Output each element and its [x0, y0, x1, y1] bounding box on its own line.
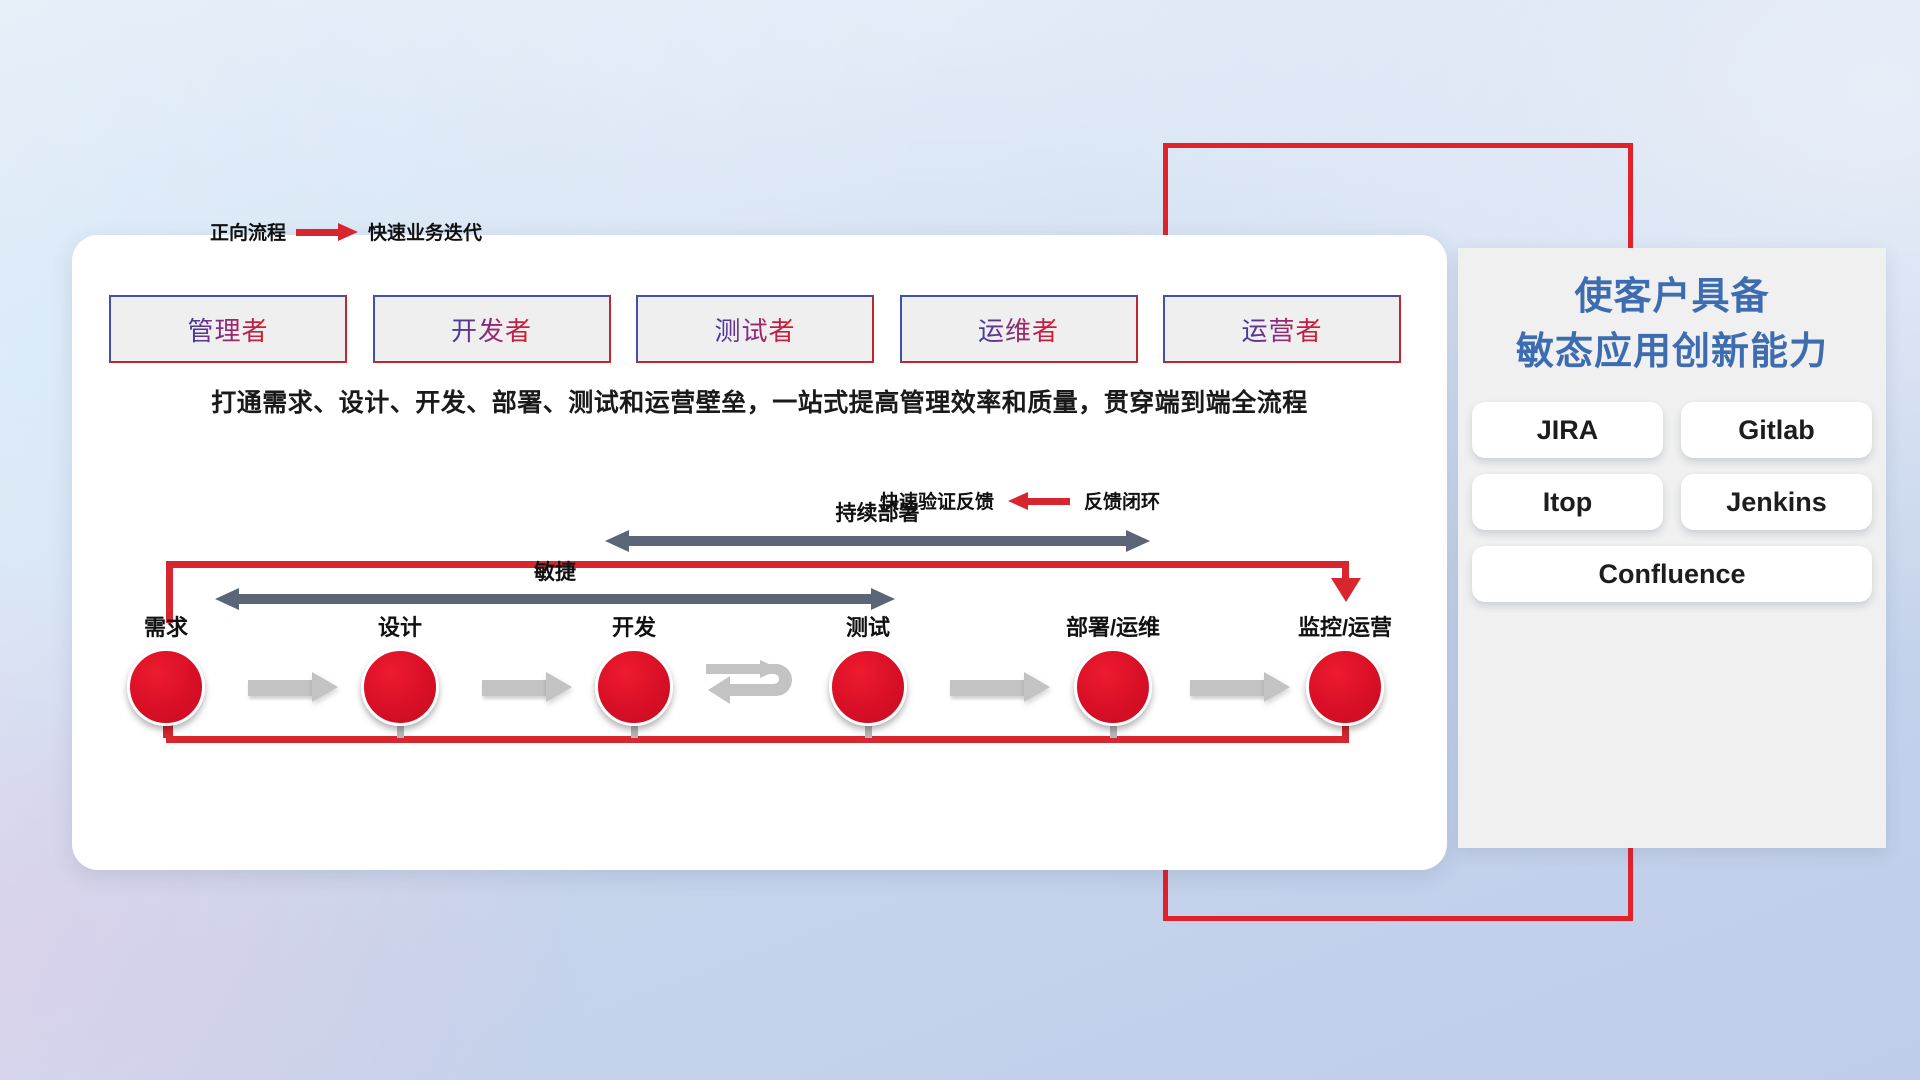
arrow-bar [248, 680, 312, 696]
agile-arrow-icon [215, 588, 895, 610]
description-text: 打通需求、设计、开发、部署、测试和运营壁垒，一站式提高管理效率和质量，贯穿端到端… [72, 383, 1447, 419]
role-box-tester[interactable]: 测试者 [636, 295, 874, 363]
stage-dot[interactable] [361, 648, 439, 726]
role-box-ops[interactable]: 运维者 [900, 295, 1138, 363]
stage-label: 监控/运营 [1225, 610, 1465, 642]
stage-label: 部署/运维 [993, 610, 1233, 642]
tool-chip-gitlab[interactable]: Gitlab [1681, 402, 1872, 458]
arrow-head [1264, 672, 1290, 702]
stage-label: 需求 [46, 610, 286, 642]
continuous-deployment-arrow-icon [605, 530, 1150, 552]
forward-flow-legend: 正向流程 快速业务迭代 [210, 218, 482, 245]
tool-chip-itop[interactable]: Itop [1472, 474, 1663, 530]
arrow-head-right [871, 588, 895, 610]
fast-iteration-label: 快速业务迭代 [368, 218, 482, 245]
stage-dot[interactable] [1306, 648, 1384, 726]
role-label: 运营者 [1241, 311, 1322, 348]
role-label: 管理者 [187, 311, 268, 348]
role-label: 运维者 [978, 311, 1059, 348]
tool-chip-confluence[interactable]: Confluence [1472, 546, 1872, 602]
feedback-legend: 快速验证反馈 反馈闭环 [880, 487, 1160, 514]
stage-dot[interactable] [595, 648, 673, 726]
role-label: 开发者 [451, 311, 532, 348]
arrow-bar [950, 680, 1024, 696]
value-panel-title: 使客户具备 敏态应用创新能力 [1458, 248, 1886, 380]
arrow-bar [237, 594, 873, 604]
role-row: 管理者 开发者 测试者 运维者 运营者 [109, 295, 1401, 363]
flow-arrow-5-icon [1190, 672, 1290, 702]
stage-dot[interactable] [829, 648, 907, 726]
feedback-loop-label: 反馈闭环 [1084, 487, 1160, 514]
stage-label: 开发 [514, 610, 754, 642]
fast-validation-label: 快速验证反馈 [880, 487, 994, 514]
arrow-down-red-icon [1331, 578, 1361, 602]
arrow-head-left [605, 530, 629, 552]
stage-label: 测试 [748, 610, 988, 642]
arrow-bar [482, 680, 546, 696]
stage-label: 设计 [280, 610, 520, 642]
arrow-right-red-icon [296, 226, 358, 238]
value-panel-title-line1: 使客户具备 [1458, 270, 1886, 325]
arrow-head [312, 672, 338, 702]
arrow-bar [1190, 680, 1264, 696]
dev-test-loop-arrow-icon [700, 660, 810, 716]
arrow-bar [627, 536, 1128, 546]
tool-chip-jenkins[interactable]: Jenkins [1681, 474, 1872, 530]
flow-arrow-4-icon [950, 672, 1050, 702]
arrow-head [1024, 672, 1050, 702]
arrow-head-left [215, 588, 239, 610]
role-box-manager[interactable]: 管理者 [109, 295, 347, 363]
role-box-operator[interactable]: 运营者 [1163, 295, 1401, 363]
value-panel-title-line2: 敏态应用创新能力 [1458, 325, 1886, 380]
flow-arrow-2-icon [482, 672, 572, 702]
arrow-head-right [1126, 530, 1150, 552]
role-label: 测试者 [714, 311, 795, 348]
tool-chip-jira[interactable]: JIRA [1472, 402, 1663, 458]
tool-list: JIRA Gitlab Itop Jenkins Confluence [1472, 402, 1872, 602]
flow-arrow-1-icon [248, 672, 338, 702]
value-panel: 使客户具备 敏态应用创新能力 JIRA Gitlab Itop Jenkins … [1458, 248, 1886, 848]
stage-dot[interactable] [127, 648, 205, 726]
main-card: 管理者 开发者 测试者 运维者 运营者 打通需求、设计、开发、部署、测试和运营壁… [72, 235, 1447, 870]
forward-flow-label: 正向流程 [210, 218, 286, 245]
role-box-developer[interactable]: 开发者 [373, 295, 611, 363]
process-loop-bottom-line [166, 736, 1349, 743]
arrow-head [546, 672, 572, 702]
agile-label: 敏捷 [215, 556, 895, 586]
arrow-left-red-icon [1008, 495, 1070, 507]
stage-dot[interactable] [1074, 648, 1152, 726]
